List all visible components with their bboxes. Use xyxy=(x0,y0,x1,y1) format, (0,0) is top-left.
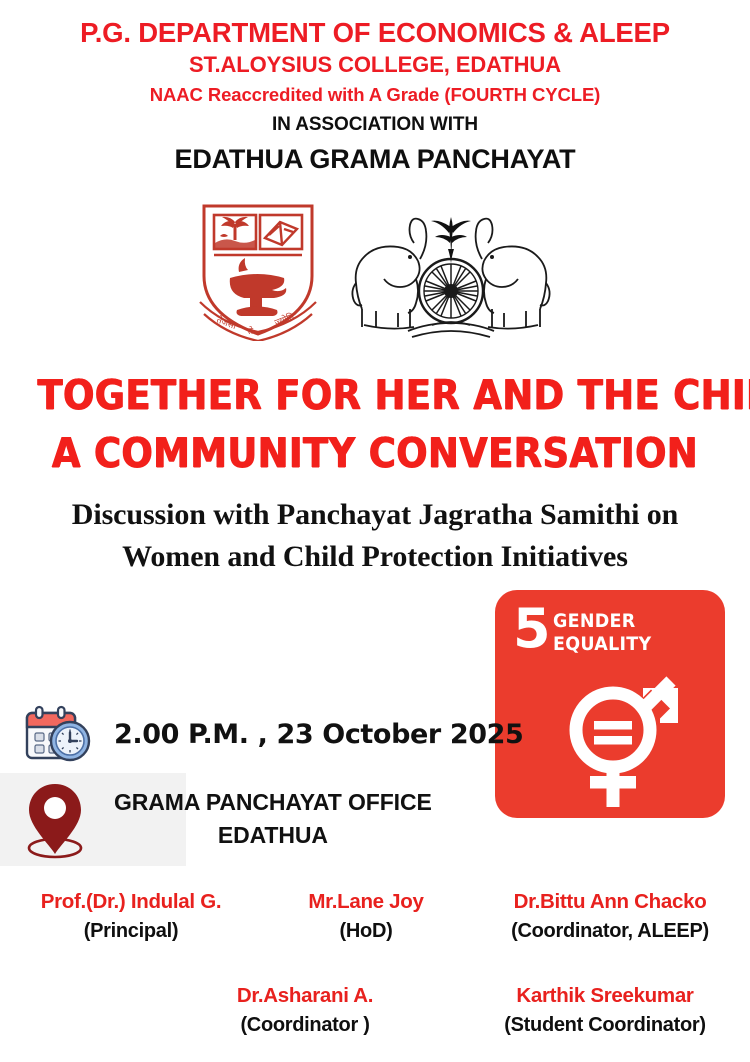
sdg-goal-label-line-1: GENDER xyxy=(553,610,651,633)
credit-item: Mr.Lane Joy (HoD) xyxy=(262,887,470,946)
event-title-line-2: A COMMUNITY CONVERSATION xyxy=(38,424,713,482)
partner-organization: EDATHUA GRAMA PANCHAYAT xyxy=(0,140,750,179)
credit-name: Prof.(Dr.) Indulal G. xyxy=(0,887,262,917)
naac-accreditation: NAAC Reaccredited with A Grade (FOURTH C… xyxy=(0,81,750,109)
sdg-goal-number: 5 xyxy=(513,602,550,656)
credit-name: Dr.Bittu Ann Chacko xyxy=(470,887,750,917)
department-title: P.G. DEPARTMENT OF ECONOMICS & ALEEP xyxy=(0,17,750,49)
poster-header: P.G. DEPARTMENT OF ECONOMICS & ALEEP ST.… xyxy=(0,0,750,180)
event-venue-text: GRAMA PANCHAYAT OFFICE EDATHUA xyxy=(114,786,432,851)
credit-role: (Coordinator, ALEEP) xyxy=(470,917,750,946)
event-title-line-1: TOGETHER FOR HER AND THE CHILD: xyxy=(38,366,713,424)
logo-row: तेजसा ते ज्योति: xyxy=(0,196,750,341)
credit-name: Dr.Asharani A. xyxy=(150,981,460,1011)
credit-role: (Principal) xyxy=(0,917,262,946)
credit-item: Karthik Sreekumar (Student Coordinator) xyxy=(460,981,750,1040)
sdg-goal-label-line-2: EQUALITY xyxy=(553,633,651,656)
credits-row-secondary: Dr.Asharani A. (Coordinator ) Karthik Sr… xyxy=(0,981,750,1040)
credit-item: Dr.Asharani A. (Coordinator ) xyxy=(150,981,460,1040)
event-venue-row: GRAMA PANCHAYAT OFFICE EDATHUA xyxy=(22,778,492,860)
credit-name: Mr.Lane Joy xyxy=(262,887,470,917)
kerala-government-emblem-icon xyxy=(346,213,556,341)
association-label: IN ASSOCIATION WITH xyxy=(0,109,750,140)
sdg-goal-label: GENDER EQUALITY xyxy=(553,610,651,656)
event-subtitle-line-2: Women and Child Protection Initiatives xyxy=(0,536,750,578)
svg-text:ते: ते xyxy=(248,325,254,337)
credit-role: (HoD) xyxy=(262,917,470,946)
credit-role: (Student Coordinator) xyxy=(460,1011,750,1040)
credit-item: Dr.Bittu Ann Chacko (Coordinator, ALEEP) xyxy=(470,887,750,946)
sdg-goal-5-badge: 5 GENDER EQUALITY xyxy=(495,590,725,818)
event-datetime-text: 2.00 P.M. , 23 October 2025 xyxy=(114,719,523,750)
location-pin-icon xyxy=(22,778,88,860)
event-subtitle: Discussion with Panchayat Jagratha Samit… xyxy=(0,494,750,578)
event-datetime-row: 2.00 P.M. , 23 October 2025 xyxy=(22,703,492,765)
venue-line-1: GRAMA PANCHAYAT OFFICE xyxy=(114,786,432,819)
credit-role: (Coordinator ) xyxy=(150,1011,460,1040)
credit-item: Prof.(Dr.) Indulal G. (Principal) xyxy=(0,887,262,946)
college-name: ST.ALOYSIUS COLLEGE, EDATHUA xyxy=(0,49,750,81)
credits-spacer xyxy=(0,981,150,1040)
event-title: TOGETHER FOR HER AND THE CHILD: A COMMUN… xyxy=(0,366,750,482)
credit-name: Karthik Sreekumar xyxy=(460,981,750,1011)
gender-equality-symbol-icon xyxy=(547,668,692,808)
st-aloysius-college-crest-icon: तेजसा ते ज्योति: xyxy=(194,198,322,341)
calendar-clock-icon xyxy=(22,705,92,763)
venue-line-2: EDATHUA xyxy=(114,819,432,852)
event-poster: P.G. DEPARTMENT OF ECONOMICS & ALEEP ST.… xyxy=(0,0,750,1062)
credits-row-primary: Prof.(Dr.) Indulal G. (Principal) Mr.Lan… xyxy=(0,887,750,946)
event-subtitle-line-1: Discussion with Panchayat Jagratha Samit… xyxy=(0,494,750,536)
